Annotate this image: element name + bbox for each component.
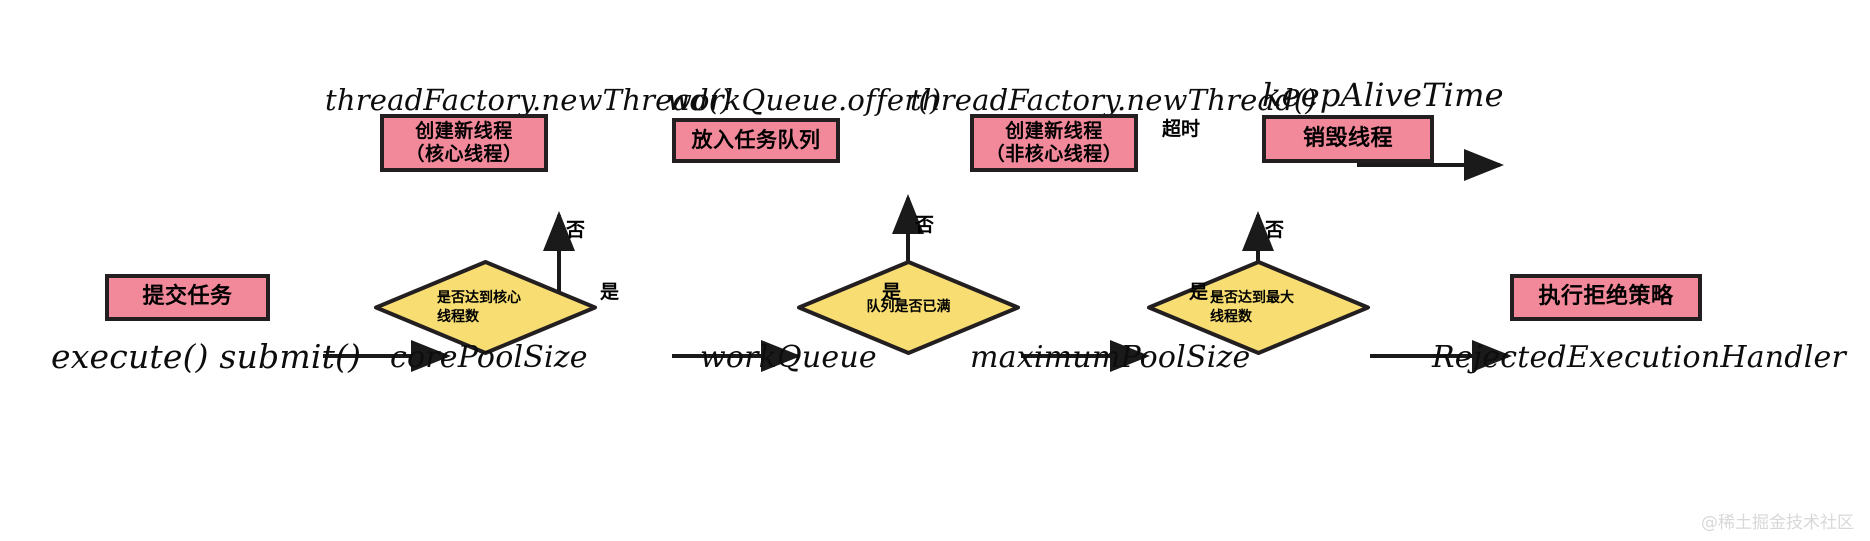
edge-label-max-yes: 是 xyxy=(1189,277,1208,304)
caption-workqueue: workQueue xyxy=(700,340,877,375)
node-destroy-thread[interactable]: 销毁线程 xyxy=(1262,115,1434,163)
create-core-thread-line2: （核心线程） xyxy=(405,143,522,166)
edge-label-max-no: 否 xyxy=(1265,215,1284,242)
edge-label-queue-yes: 是 xyxy=(882,277,901,304)
node-reject-policy[interactable]: 执行拒绝策略 xyxy=(1510,274,1702,321)
edge-label-core-no: 否 xyxy=(566,215,585,242)
edge-label-core-yes: 是 xyxy=(600,277,619,304)
create-noncore-thread-line2: （非核心线程） xyxy=(986,143,1123,166)
create-noncore-thread-line1: 创建新线程 xyxy=(1005,120,1103,143)
watermark: @稀土掘金技术社区 xyxy=(1701,508,1854,533)
caption-execute-submit: execute() submit() xyxy=(51,337,361,376)
submit-task-label: 提交任务 xyxy=(142,284,232,311)
enqueue-task-label: 放入任务队列 xyxy=(692,128,821,154)
create-core-thread-line1: 创建新线程 xyxy=(415,120,513,143)
destroy-thread-label: 销毁线程 xyxy=(1303,126,1393,153)
edge-label-queue-no: 否 xyxy=(915,210,934,237)
node-enqueue-task[interactable]: 放入任务队列 xyxy=(672,118,840,163)
node-create-core-thread[interactable]: 创建新线程 （核心线程） xyxy=(380,114,548,172)
node-submit-task[interactable]: 提交任务 xyxy=(105,274,270,321)
node-create-noncore-thread[interactable]: 创建新线程 （非核心线程） xyxy=(970,114,1138,172)
caption-threadfactory-noncore: threadFactory.newThread() xyxy=(910,83,1317,117)
caption-rejectedexecutionhandler: RejectedExecutionHandler xyxy=(1432,340,1846,375)
caption-keepalivetime: keepAliveTime xyxy=(1262,76,1504,114)
caption-maximumpoolsize: maximumPoolSize xyxy=(970,340,1250,375)
reject-policy-label: 执行拒绝策略 xyxy=(1538,284,1673,311)
edge-label-noncore-timeout: 超时 xyxy=(1162,114,1200,141)
caption-corepoolsize: corePoolSize xyxy=(390,340,588,375)
caption-workqueue-offer: workQueue.offer() xyxy=(667,83,941,117)
